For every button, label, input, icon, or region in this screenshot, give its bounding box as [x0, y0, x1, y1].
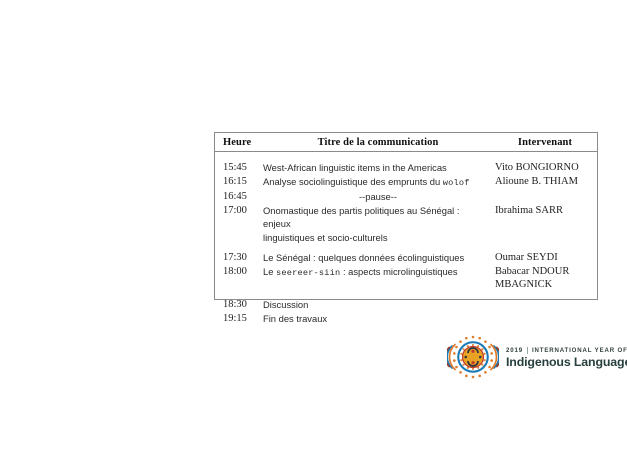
iyil-2019-logo: 2019 INTERNATIONAL YEAR OF Indigenous La… [447, 329, 617, 385]
table-body: 15:45West-African linguistic items in th… [215, 152, 597, 325]
cell-speaker: Oumar SEYDI [493, 251, 597, 265]
table-header-row: Heure Titre de la communication Interven… [215, 133, 597, 152]
table-row: 17:30Le Sénégal : quelques données écoli… [215, 251, 597, 265]
title-text: Discussion [263, 299, 308, 310]
cell-title: Analyse sociolinguistique des emprunts d… [263, 175, 493, 191]
title-text: Le Sénégal : quelques données écolinguis… [263, 252, 464, 263]
table-row: 16:45--pause-- [215, 190, 597, 204]
title-term-mono: wolof [443, 178, 470, 188]
iyil-tagline: INTERNATIONAL YEAR OF [532, 347, 627, 354]
title-text: Analyse sociolinguistique des emprunts d… [263, 176, 443, 187]
title-text: West-African linguistic items in the Ame… [263, 162, 447, 173]
cell-title: West-African linguistic items in the Ame… [263, 161, 493, 175]
title-text: Fin des travaux [263, 313, 327, 324]
title-term-mono: seereer-siin [276, 268, 340, 278]
cell-time: 18:30 [215, 298, 263, 312]
cell-speaker: Vito BONGIORNO [493, 161, 597, 175]
title-text: Le [263, 266, 276, 277]
speaker-name: Alioune B. THIAM [495, 176, 578, 187]
cell-time: 17:00 [215, 204, 263, 218]
speaker-name: Vito BONGIORNO [495, 162, 579, 173]
title-text-tail: : aspects microlinguistiques [340, 266, 457, 277]
cell-title: Le seereer-siin : aspects microlinguisti… [263, 265, 493, 281]
speaker-name-cont: MBAGNICK [495, 278, 597, 291]
schedule-table: Heure Titre de la communication Interven… [214, 132, 598, 300]
cell-title: Fin des travaux [263, 312, 493, 326]
cell-time: 17:30 [215, 251, 263, 265]
cell-speaker: Alioune B. THIAM [493, 175, 597, 189]
iyil-logo-text: 2019 INTERNATIONAL YEAR OF Indigenous La… [506, 345, 627, 370]
table-row: 17:00Onomastique des partis politiques a… [215, 204, 597, 245]
table-row: 16:15Analyse sociolinguistique des empru… [215, 175, 597, 191]
cell-time: 15:45 [215, 161, 263, 175]
column-header-titre: Titre de la communication [263, 137, 493, 148]
iyil-name: Indigenous Languages [506, 355, 627, 369]
iyil-year: 2019 [506, 347, 523, 354]
table-row: 19:15Fin des travaux [215, 312, 597, 326]
table-row: 18:30Discussion [215, 298, 597, 312]
cell-title: --pause-- [263, 190, 493, 204]
cell-speaker: Babacar NDOURMBAGNICK [493, 265, 597, 292]
speaker-name: Oumar SEYDI [495, 252, 558, 263]
column-header-heure: Heure [215, 137, 263, 148]
cell-time: 16:15 [215, 175, 263, 189]
iyil-2019-emblem-icon [447, 331, 499, 383]
title-text: Onomastique des partis politiques au Sén… [263, 205, 459, 230]
table-row: 18:00Le seereer-siin : aspects microling… [215, 265, 597, 292]
speaker-name: Babacar NDOUR [495, 266, 569, 277]
cell-time: 18:00 [215, 265, 263, 279]
cell-title: Discussion [263, 298, 493, 312]
title-line-2: linguistiques et socio-culturels [263, 231, 487, 245]
cell-time: 19:15 [215, 312, 263, 326]
iyil-tagline-row: 2019 INTERNATIONAL YEAR OF [506, 347, 627, 354]
cell-title: Onomastique des partis politiques au Sén… [263, 204, 493, 245]
iyil-divider [527, 347, 528, 354]
speaker-name: Ibrahima SARR [495, 205, 563, 216]
cell-title: Le Sénégal : quelques données écolinguis… [263, 251, 493, 265]
title-text: --pause-- [359, 191, 397, 202]
cell-time: 16:45 [215, 190, 263, 204]
column-header-intervenant: Intervenant [493, 137, 597, 148]
cell-speaker: Ibrahima SARR [493, 204, 597, 218]
table-row: 15:45West-African linguistic items in th… [215, 161, 597, 175]
